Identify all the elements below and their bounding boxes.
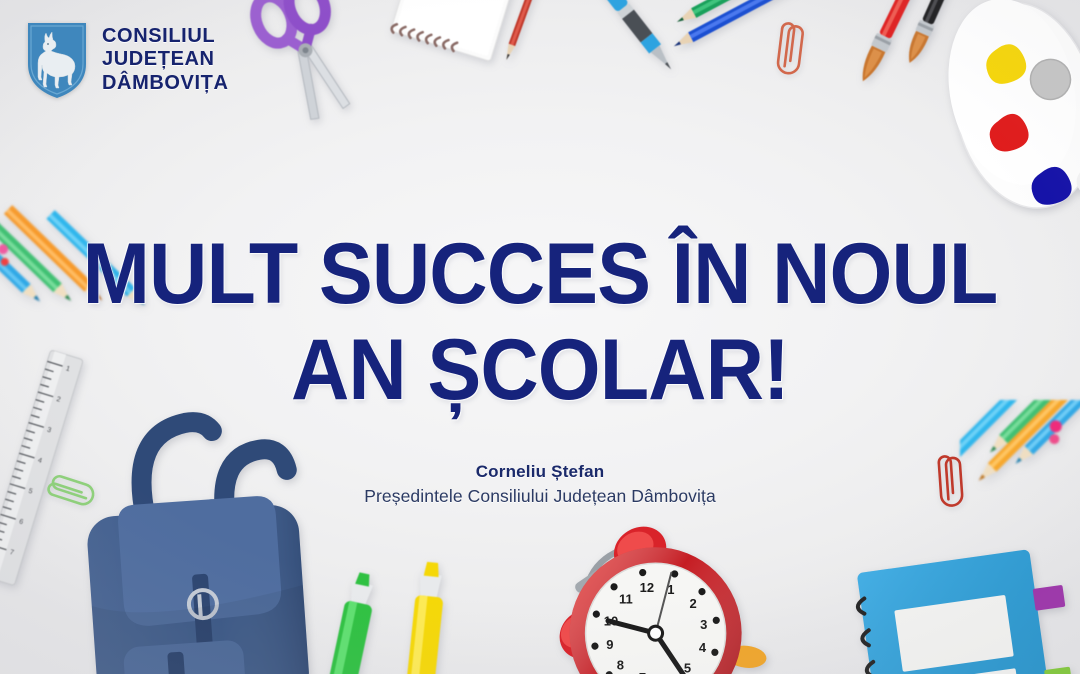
svg-text:7: 7 xyxy=(9,549,15,557)
logo-line-3: DÂMBOVIȚA xyxy=(102,72,229,95)
svg-text:3: 3 xyxy=(700,617,707,632)
blue-mechanical-pen-icon xyxy=(540,0,730,94)
green-blue-pencils-icon xyxy=(600,0,840,100)
svg-text:7: 7 xyxy=(639,670,646,674)
svg-text:6: 6 xyxy=(18,518,24,526)
signature-role: Președintele Consiliului Județean Dâmbov… xyxy=(0,486,1080,507)
svg-text:9: 9 xyxy=(606,637,613,652)
svg-text:3: 3 xyxy=(46,427,52,435)
svg-text:2: 2 xyxy=(690,596,697,611)
logo: CONSILIUL JUDEȚEAN DÂMBOVIȚA xyxy=(26,20,229,100)
svg-text:11: 11 xyxy=(619,592,633,607)
blue-spiral-notebook-icon xyxy=(846,542,1080,674)
svg-text:12: 12 xyxy=(640,580,654,595)
title-line-2: AN ȘCOLAR! xyxy=(32,328,1047,412)
svg-text:1: 1 xyxy=(667,582,674,597)
green-highlighter-icon xyxy=(296,572,406,674)
spiral-notepad-icon xyxy=(372,0,532,90)
svg-text:5: 5 xyxy=(684,660,691,674)
yellow-highlighter-icon xyxy=(370,560,480,674)
red-alarm-clock-icon: 12 1 2 3 4 5 6 7 8 9 10 11 xyxy=(526,516,776,674)
damboviaaa-shield-icon xyxy=(26,20,88,100)
signature-name: Corneliu Ștefan xyxy=(0,462,1080,482)
red-pencil-icon xyxy=(468,0,588,80)
black-paintbrush-icon xyxy=(868,0,978,98)
svg-text:10: 10 xyxy=(604,613,618,628)
purple-scissors-icon xyxy=(242,0,372,124)
poster-canvas: 123 456 7 xyxy=(0,0,1080,674)
artist-paint-palette-icon xyxy=(938,0,1080,224)
svg-text:4: 4 xyxy=(699,640,707,655)
svg-text:8: 8 xyxy=(617,657,624,672)
signature-block: Corneliu Ștefan Președintele Consiliului… xyxy=(0,462,1080,507)
logo-text: CONSILIUL JUDEȚEAN DÂMBOVIȚA xyxy=(102,25,229,95)
blue-backpack-icon xyxy=(52,398,352,674)
red-paintbrush-icon xyxy=(828,0,938,106)
orange-paperclip-icon xyxy=(768,16,816,78)
logo-line-1: CONSILIUL xyxy=(102,25,229,48)
logo-line-2: JUDEȚEAN xyxy=(102,48,229,71)
page-title: MULT SUCCES ÎN NOUL AN ȘCOLAR! xyxy=(0,232,1080,413)
title-line-1: MULT SUCCES ÎN NOUL xyxy=(32,232,1047,316)
